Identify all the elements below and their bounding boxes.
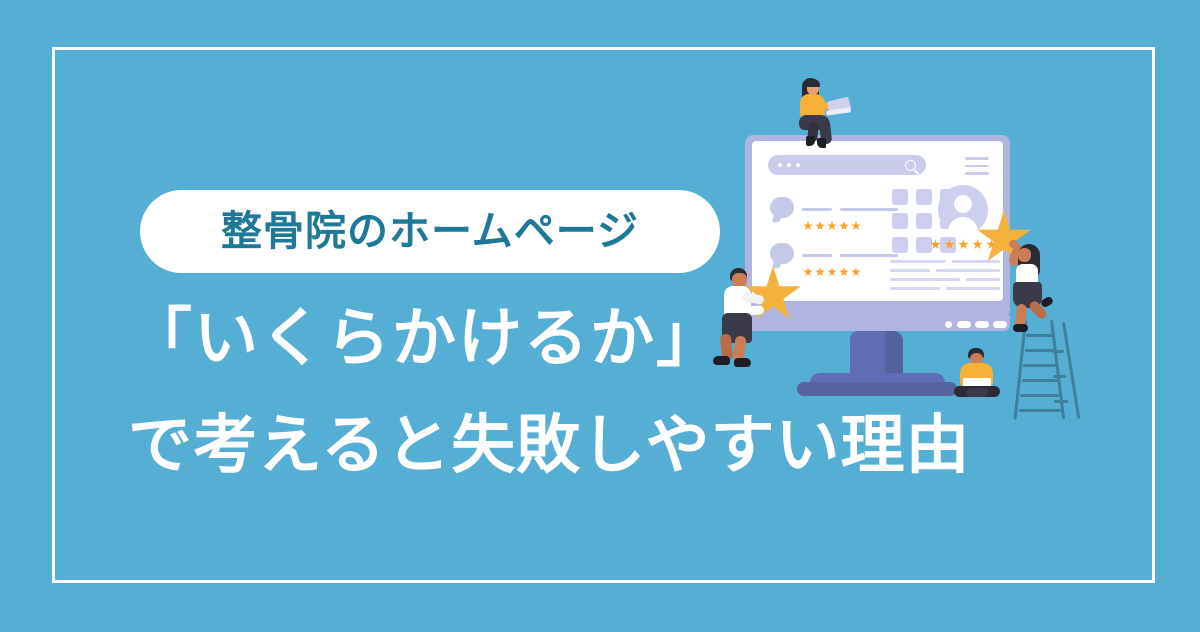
search-dot xyxy=(778,163,782,167)
paragraph-line xyxy=(890,260,946,263)
paragraph-line xyxy=(952,260,1000,263)
headline-line-2: で考えると失敗しやすい理由 xyxy=(128,412,748,480)
shoe-back xyxy=(713,356,730,365)
woman-on-monitor-with-laptop xyxy=(786,78,856,148)
lap xyxy=(966,388,988,397)
search-icon[interactable] xyxy=(905,160,916,171)
grid-tile xyxy=(916,189,932,205)
man-carrying-star xyxy=(710,268,780,378)
ladder-step xyxy=(1020,394,1059,397)
shoe-back xyxy=(806,136,815,146)
comment-bubble-icon xyxy=(770,243,794,264)
ladder-step xyxy=(1025,349,1055,352)
review-text-line xyxy=(840,208,898,211)
avatar-head xyxy=(954,195,972,213)
paragraph-line xyxy=(946,287,1000,290)
hamburger-menu-icon[interactable] xyxy=(965,157,989,180)
woman-on-ladder-placing-star xyxy=(1000,238,1070,338)
poster-canvas: 整骨院のホームページ 「いくらかけるか」 で考えると失敗しやすい理由 xyxy=(0,0,1200,632)
search-dot xyxy=(787,163,791,167)
search-input[interactable] xyxy=(768,155,926,175)
page-title: 「いくらかけるか」 で考えると失敗しやすい理由 xyxy=(128,305,748,480)
user-avatar-icon xyxy=(938,185,988,235)
hand xyxy=(1009,240,1018,248)
monitor-screen xyxy=(752,141,1003,301)
rating-stars xyxy=(803,267,861,277)
monitor-indicator-dash xyxy=(975,321,989,328)
hair-front xyxy=(805,79,820,87)
monitor-neck xyxy=(850,331,903,376)
grid-tile xyxy=(916,213,932,229)
shoe-front xyxy=(734,358,751,367)
ladder-step xyxy=(1023,364,1056,367)
paragraph-line xyxy=(890,287,940,290)
rating-stars xyxy=(803,221,861,231)
paragraph-line xyxy=(890,278,960,281)
monitor-base-shadow xyxy=(797,382,957,396)
face xyxy=(732,273,747,287)
text-block: 整骨院のホームページ 「いくらかけるか」 で考えると失敗しやすい理由 xyxy=(0,0,760,632)
review-text-line xyxy=(840,254,898,257)
grid-tile xyxy=(892,237,908,253)
category-badge-label: 整骨院のホームページ xyxy=(221,211,639,252)
ladder-step xyxy=(1022,379,1058,382)
grid-tile xyxy=(892,189,908,205)
ladder-step-back xyxy=(1054,400,1068,403)
face xyxy=(1018,248,1031,262)
comment-bubble-icon xyxy=(770,197,794,218)
paragraph-line xyxy=(966,278,1000,281)
ladder-step xyxy=(1019,409,1061,412)
avatar-body xyxy=(948,217,978,235)
shoe xyxy=(817,138,826,148)
ladder-step-back xyxy=(1053,375,1066,378)
profile-rating-stars xyxy=(930,239,997,250)
review-text-line xyxy=(802,208,832,211)
monitor-indicator-dash xyxy=(957,321,971,328)
paragraph-line xyxy=(890,269,930,272)
review-website-illustration xyxy=(700,70,1120,430)
review-text-line xyxy=(802,254,832,257)
grid-tile xyxy=(892,213,908,229)
person-sitting-with-laptop xyxy=(950,348,1010,400)
paragraph-line xyxy=(936,269,1000,272)
category-badge: 整骨院のホームページ xyxy=(140,190,720,273)
shoe-standing xyxy=(1013,324,1028,332)
search-dot xyxy=(796,163,800,167)
headline-line-1: 「いくらかけるか」 xyxy=(128,305,748,373)
ladder-step-back xyxy=(1052,350,1064,353)
monitor-indicator-dot xyxy=(945,321,952,328)
